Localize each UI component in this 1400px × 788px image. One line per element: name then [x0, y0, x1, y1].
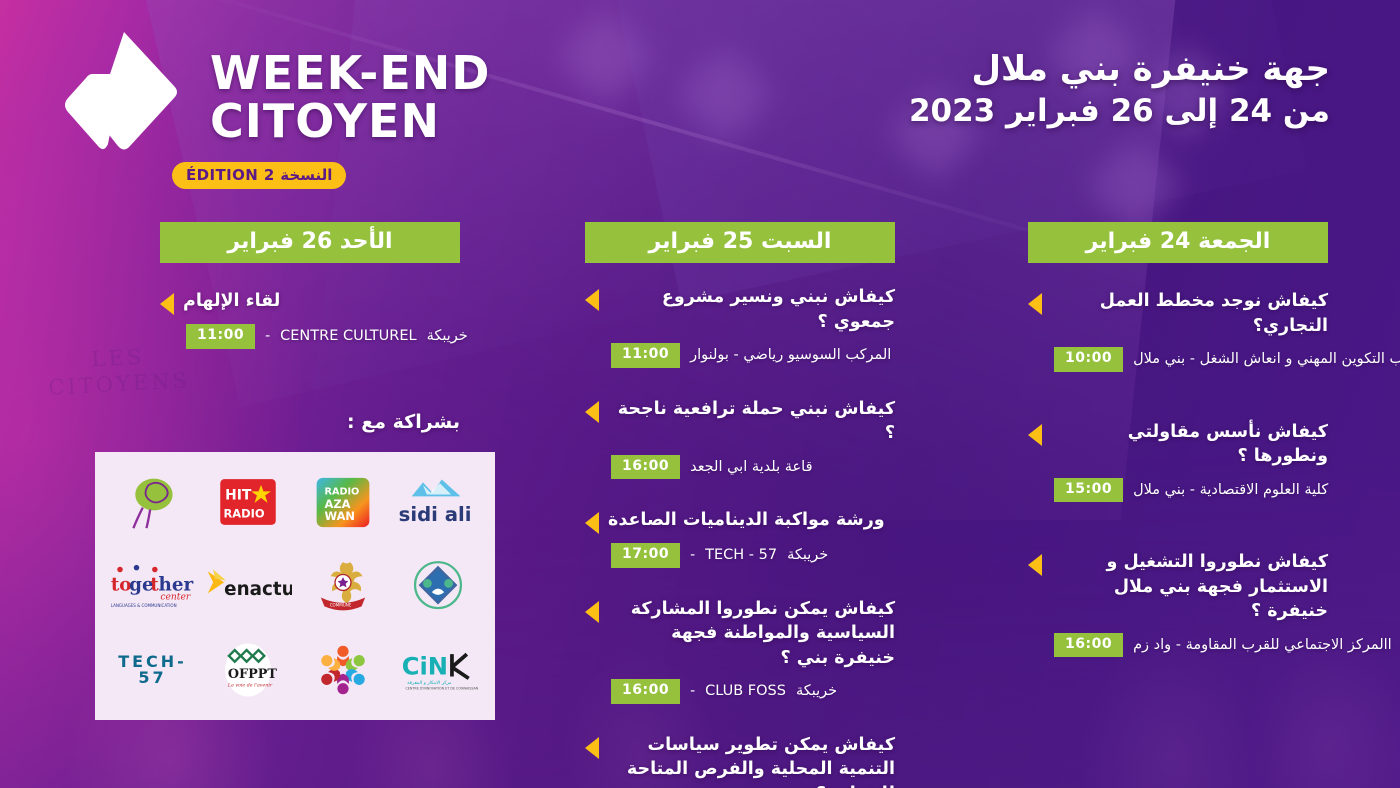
- bullet-arrow-icon: [585, 601, 599, 623]
- day-column-sunday: الأحد 26 فبراير لقاء الإلهام خريبكة CENT…: [160, 222, 460, 433]
- svg-text:center: center: [160, 592, 191, 603]
- bullet-arrow-icon: [585, 401, 599, 423]
- svg-text:WAN: WAN: [324, 509, 354, 523]
- session-venue-latin: TECH - 57: [705, 547, 777, 563]
- session-venue-latin: CENTRE CULTUREL: [280, 328, 416, 344]
- poster-canvas: LES CITOYENS WEEK-END CITOYEN ÉDITION 2 …: [0, 0, 1400, 788]
- day-column-friday: الجمعة 24 فبراير كيفاش نوجد مخطط العمل ا…: [1028, 222, 1328, 686]
- commune-logo: COMMUNE: [297, 550, 389, 622]
- session-time-badge: 16:00: [611, 455, 680, 480]
- session-title: كيفاش نطوروا التشغيل و الاستثمار فجهة بن…: [1051, 550, 1328, 624]
- cink-logo: CiN مركز الابتكار و المعرفة CENTRE D'INN…: [392, 634, 484, 706]
- partners-title: بشراكة مع :: [160, 411, 460, 433]
- session-venue: االمركز الاجتماعي للقرب المقاومة - واد ز…: [1133, 637, 1392, 653]
- session-time-badge: 15:00: [1054, 478, 1123, 503]
- session-item[interactable]: كيفاش نطوروا التشغيل و الاستثمار فجهة بن…: [1028, 550, 1328, 657]
- session-title: كيفاش نبني حملة ترافعية ناجحة ؟: [608, 397, 895, 446]
- session-venue: قاعة بلدية ابي الجعد: [690, 459, 812, 475]
- session-item[interactable]: كيفاش نبني حملة ترافعية ناجحة ؟ قاعة بلد…: [585, 397, 895, 480]
- session-venue: خريبكة: [427, 328, 468, 344]
- session-venue: خريبكة: [787, 547, 828, 563]
- session-time-badge: 11:00: [611, 343, 680, 368]
- svg-text:CiN: CiN: [401, 653, 447, 681]
- session-item[interactable]: لقاء الإلهام خريبكة CENTRE CULTUREL- 11:…: [160, 289, 460, 349]
- session-time-badge: 10:00: [1054, 347, 1123, 372]
- session-item[interactable]: كيفاش يمكن تطوير سياسات التنمية المحلية …: [585, 733, 895, 788]
- session-venue: خريبكة: [796, 683, 837, 699]
- session-item[interactable]: كيفاش نبني ونسير مشروع جمعوي ؟ المركب ال…: [585, 285, 895, 368]
- bullet-arrow-icon: [1028, 554, 1042, 576]
- session-venue: مكتب التكوين المهني و انعاش الشغل - بني …: [1133, 351, 1400, 367]
- session-title: كيفاش نبني ونسير مشروع جمعوي ؟: [608, 285, 895, 334]
- session-venue: المركب السوسيو رياضي - بولنوار: [690, 347, 891, 363]
- session-title: كيفاش نأسس مقاولتي ونطورها ؟: [1051, 420, 1328, 469]
- day-column-saturday: السبت 25 فبراير كيفاش نبني ونسير مشروع ج…: [585, 222, 895, 788]
- svg-text:sidi ali: sidi ali: [398, 503, 471, 526]
- session-venue: كلية العلوم الاقتصادية - بني ملال: [1133, 482, 1328, 498]
- session-item[interactable]: كيفاش نوجد مخطط العمل التجاري؟ مكتب التك…: [1028, 289, 1328, 372]
- ofppt-logo: OFPPT La voie de l'avenir: [202, 634, 294, 706]
- svg-text:CENTRE D'INNOVATION ET DE CONN: CENTRE D'INNOVATION ET DE CONNAISSANCE: [405, 687, 478, 691]
- day-header-friday: الجمعة 24 فبراير: [1028, 222, 1328, 263]
- les-citoyens-logo: [107, 466, 199, 538]
- tech-57-logo: TECH-57: [107, 634, 199, 706]
- partners-panel: HIT RADIO RADIO AZA WAN: [95, 452, 495, 720]
- bullet-arrow-icon: [160, 293, 174, 315]
- session-venue-latin: CLUB FOSS: [705, 683, 786, 699]
- svg-text:La voie de l'avenir: La voie de l'avenir: [226, 682, 272, 688]
- bullet-arrow-icon: [585, 289, 599, 311]
- session-time-badge: 11:00: [186, 324, 255, 349]
- svg-text:OFPPT: OFPPT: [227, 667, 276, 682]
- svg-text:LANGUAGES & COMMUNICATION: LANGUAGES & COMMUNICATION: [110, 603, 176, 608]
- session-title: كيفاش نوجد مخطط العمل التجاري؟: [1051, 289, 1328, 338]
- svg-text:مركز الابتكار و المعرفة: مركز الابتكار و المعرفة: [407, 680, 452, 686]
- session-title: كيفاش يمكن نطوروا المشاركة السياسية والم…: [608, 597, 895, 671]
- session-item[interactable]: كيفاش نأسس مقاولتي ونطورها ؟ كلية العلوم…: [1028, 420, 1328, 503]
- solidarity-logo: [297, 634, 389, 706]
- session-time-badge: 17:00: [611, 543, 680, 568]
- session-item[interactable]: كيفاش يمكن نطوروا المشاركة السياسية والم…: [585, 597, 895, 704]
- enactus-logo: enactus: [202, 550, 294, 622]
- svg-text:HIT: HIT: [225, 488, 252, 504]
- session-item[interactable]: ورشة مواكبة الديناميات الصاعدة خريبكة TE…: [585, 508, 895, 568]
- session-title: ورشة مواكبة الديناميات الصاعدة: [608, 508, 885, 533]
- session-title: لقاء الإلهام: [183, 289, 280, 314]
- svg-text:COMMUNE: COMMUNE: [329, 602, 351, 607]
- sidi-ali-logo: sidi ali: [392, 466, 484, 538]
- svg-text:enactus: enactus: [224, 579, 292, 600]
- radio-azawan-logo: RADIO AZA WAN: [297, 466, 389, 538]
- bullet-arrow-icon: [1028, 424, 1042, 446]
- bullet-arrow-icon: [585, 512, 599, 534]
- association-logo: [392, 550, 484, 622]
- svg-text:RADIO: RADIO: [223, 507, 264, 521]
- together-center-logo: to ge t her center LANGUAGES & COMMUNICA…: [107, 550, 199, 622]
- session-time-badge: 16:00: [1054, 633, 1123, 658]
- hit-radio-logo: HIT RADIO: [202, 466, 294, 538]
- day-header-sunday: الأحد 26 فبراير: [160, 222, 460, 263]
- bullet-arrow-icon: [1028, 293, 1042, 315]
- bullet-arrow-icon: [585, 737, 599, 759]
- session-time-badge: 16:00: [611, 679, 680, 704]
- session-title: كيفاش يمكن تطوير سياسات التنمية المحلية …: [608, 733, 895, 788]
- day-header-saturday: السبت 25 فبراير: [585, 222, 895, 263]
